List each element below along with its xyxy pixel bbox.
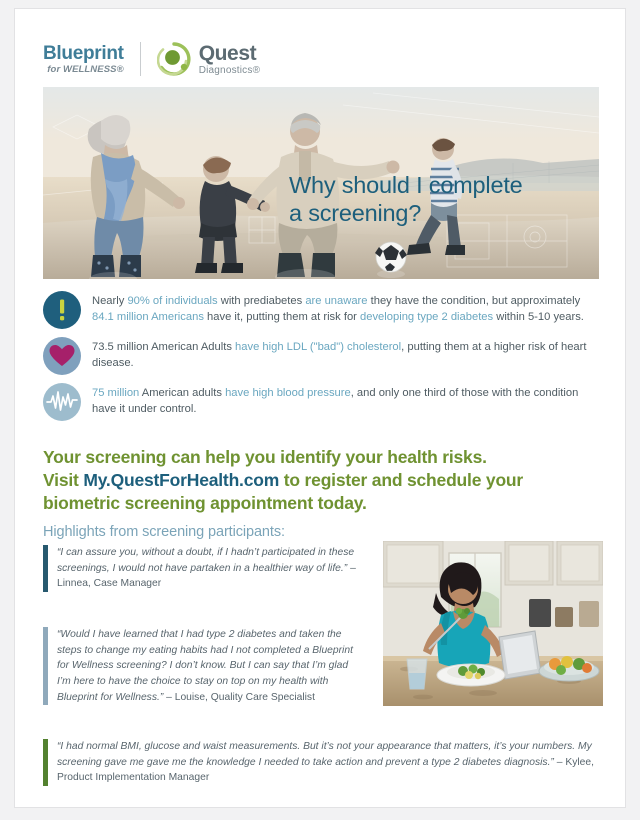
hero-heading: Why should I complete a screening?: [289, 171, 589, 227]
logo-divider: [140, 42, 141, 76]
blueprint-tagline: for WELLNESS®: [47, 65, 123, 75]
cta-line-1: Your screening can help you identify you…: [43, 447, 487, 467]
testimonial-quote: “I had normal BMI, glucose and waist mea…: [43, 739, 603, 786]
kitchen-illustration: [383, 541, 603, 706]
fact-item: Nearly 90% of individuals with prediabet…: [43, 291, 599, 329]
quote-accent-bar: [43, 627, 48, 705]
cta-line-2-rest: to register and schedule your: [279, 470, 523, 490]
fact-text: Nearly 90% of individuals with prediabet…: [92, 291, 599, 325]
cta-line-3: biometric screening appointment today.: [43, 493, 367, 513]
quest-for-health-link[interactable]: My.QuestForHealth.com: [83, 470, 279, 490]
fact-text: 75 million American adults have high blo…: [92, 383, 599, 417]
call-to-action: Your screening can help you identify you…: [43, 446, 609, 515]
heart-icon: [43, 337, 81, 375]
testimonial-quote: “Would I have learned that I had type 2 …: [43, 627, 361, 705]
fact-item: 75 million American adults have high blo…: [43, 383, 599, 421]
quest-swirl-icon: [157, 42, 191, 76]
fact-item: 73.5 million American Adults have high L…: [43, 337, 599, 375]
hero-image: Why should I complete a screening?: [43, 87, 599, 279]
tablet-device: [499, 631, 541, 679]
quote-text: “I can assure you, without a doubt, if I…: [57, 545, 361, 592]
highlights-title: Highlights from screening participants:: [43, 524, 285, 540]
quest-wordmark-group: Quest Diagnostics®: [199, 43, 260, 76]
quote-text: “Would I have learned that I had type 2 …: [57, 627, 361, 705]
hero-heading-line2: a screening?: [289, 200, 421, 226]
pulse-icon: [43, 383, 81, 421]
facts-list: Nearly 90% of individuals with prediabet…: [43, 291, 599, 429]
salad-plate: [437, 664, 505, 686]
kitchen-photo: [383, 541, 603, 706]
fact-text: 73.5 million American Adults have high L…: [92, 337, 599, 371]
quote-accent-bar: [43, 545, 48, 592]
soccer-ball-icon: [375, 242, 407, 272]
page-sheet: Blueprint for WELLNESS® Quest Diagnostic…: [14, 8, 626, 808]
document-page: Blueprint for WELLNESS® Quest Diagnostic…: [0, 0, 640, 820]
blueprint-wordmark: Blueprint: [43, 44, 124, 63]
quote-text: “I had normal BMI, glucose and waist mea…: [57, 739, 603, 786]
cta-visit-label: Visit: [43, 470, 83, 490]
blueprint-logo: Blueprint for WELLNESS®: [43, 44, 124, 75]
quest-wordmark: Quest: [199, 43, 260, 64]
quest-logo: Quest Diagnostics®: [157, 42, 260, 76]
quote-accent-bar: [43, 739, 48, 786]
quest-subtitle: Diagnostics®: [199, 66, 260, 76]
brand-logo-lockup: Blueprint for WELLNESS® Quest Diagnostic…: [43, 37, 260, 81]
water-glass: [407, 659, 427, 689]
exclamation-icon: [43, 291, 81, 329]
testimonial-quote: “I can assure you, without a doubt, if I…: [43, 545, 361, 592]
hero-heading-line1: Why should I complete: [289, 172, 523, 198]
